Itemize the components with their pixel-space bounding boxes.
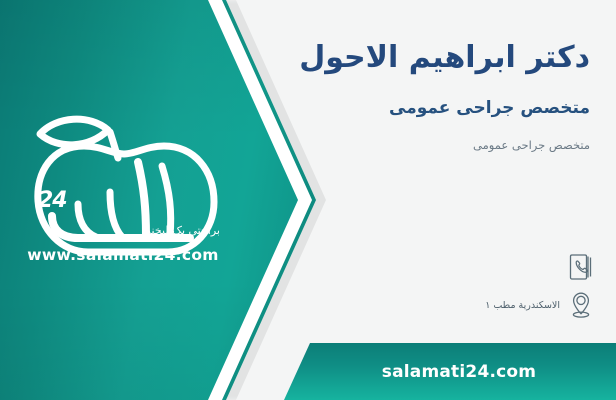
logo-tagline: براحتی یک لبخند — [146, 224, 220, 237]
logo-number-24: 24 — [38, 188, 67, 213]
phone-book-icon — [568, 252, 594, 282]
doctor-specialty: متخصص جراحی عمومی — [389, 98, 590, 118]
location-pin-icon — [568, 290, 594, 320]
contact-address-label: الاسكندرية مطب ١ — [485, 300, 560, 311]
doctor-name: دکتر ابراهیم الاحول — [299, 40, 590, 75]
contact-row-phone[interactable] — [560, 252, 594, 282]
footer-bar: salamati24.com — [284, 343, 616, 400]
contact-row-address[interactable]: الاسكندرية مطب ١ — [485, 290, 594, 320]
salamati24-logo: 24 براحتی یک لبخند www.salamati24.com — [18, 96, 228, 276]
business-card: 24 براحتی یک لبخند www.salamati24.com دک… — [0, 0, 616, 400]
doctor-specialty-secondary: متخصص جراحی عمومی — [473, 138, 590, 152]
logo-website-url: www.salamati24.com — [18, 246, 228, 264]
footer-website[interactable]: salamati24.com — [382, 362, 536, 382]
